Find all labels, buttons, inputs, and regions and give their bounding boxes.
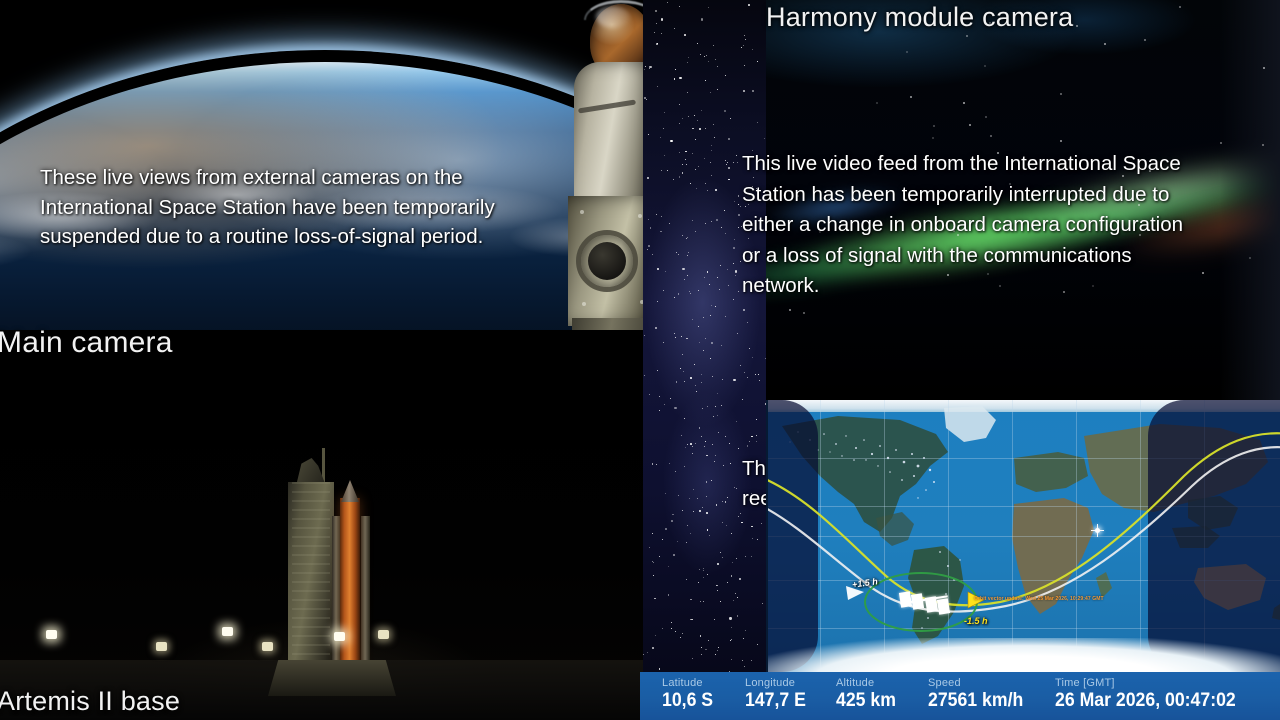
star-dot — [1263, 67, 1265, 69]
eva-visor-rim — [584, 0, 652, 20]
telemetry-value: 147,7 E — [745, 690, 806, 712]
telemetry-label: Time [GMT] — [1055, 677, 1249, 689]
main-message-paragraph-1: These live views from external cameras o… — [40, 163, 610, 252]
track-direction-markers — [768, 400, 1280, 672]
orbit-epoch-annotation: Orbit vector update: Wed 25 Mar 2026, 10… — [974, 596, 1104, 602]
telemetry-label: Speed — [928, 677, 1030, 689]
harmony-message-paragraph-1: This live video feed from the Internatio… — [742, 149, 1280, 302]
iss-live-stream-view: These live views from external cameras o… — [0, 0, 1280, 720]
world-map[interactable]: +1.5 h -1.5 h Orbit vector update: Wed 2… — [768, 400, 1280, 672]
telemetry-bar: Latitude 10,6 S Longitude 147,7 E Altitu… — [640, 672, 1280, 720]
sls-core-stage — [340, 498, 360, 674]
telemetry-value: 27561 km/h — [928, 690, 1023, 712]
track-label-behind: -1.5 h — [964, 616, 988, 626]
pad-floodlight — [262, 642, 273, 651]
eva-suit-torso — [574, 62, 652, 212]
star-dot — [906, 51, 908, 53]
pad-floodlight — [156, 642, 167, 651]
telemetry-label: Latitude — [662, 677, 717, 689]
star-dot — [1144, 39, 1146, 41]
solid-rocket-booster-right — [361, 516, 370, 666]
telemetry-field-latitude: Latitude 10,6 S — [662, 677, 717, 712]
telemetry-label: Altitude — [836, 677, 900, 689]
pad-floodlight — [222, 627, 233, 636]
pad-floodlight — [334, 632, 345, 641]
caption-harmony-module-camera: Harmony module camera — [766, 2, 1073, 33]
caption-artemis-base: Artemis II base — [0, 686, 180, 717]
telemetry-label: Longitude — [745, 677, 811, 689]
star-dot — [1076, 25, 1078, 27]
pad-floodlight — [378, 630, 389, 639]
launch-pad-base — [268, 660, 396, 696]
mobile-launcher-tower — [288, 482, 334, 674]
eva-bolt — [582, 302, 586, 306]
star-dot — [1179, 6, 1181, 8]
telemetry-value: 10,6 S — [662, 690, 713, 712]
eva-bolt — [580, 210, 584, 214]
eva-bolt — [638, 214, 642, 218]
star-dot — [966, 35, 968, 37]
eva-hatch-center — [588, 242, 626, 280]
panel-artemis-base-camera[interactable] — [0, 330, 648, 720]
telemetry-field-altitude: Altitude 425 km — [836, 677, 900, 712]
caption-main-camera: Main camera — [0, 326, 173, 360]
telemetry-value: 26 Mar 2026, 00:47:02 — [1055, 690, 1236, 712]
pad-floodlight — [46, 630, 57, 639]
star-dot — [1104, 43, 1106, 45]
telemetry-field-time: Time [GMT] 26 Mar 2026, 00:47:02 — [1055, 677, 1249, 712]
telemetry-value: 425 km — [836, 690, 896, 712]
telemetry-field-speed: Speed 27561 km/h — [928, 677, 1030, 712]
telemetry-field-longitude: Longitude 147,7 E — [745, 677, 811, 712]
star-dot — [984, 65, 986, 67]
